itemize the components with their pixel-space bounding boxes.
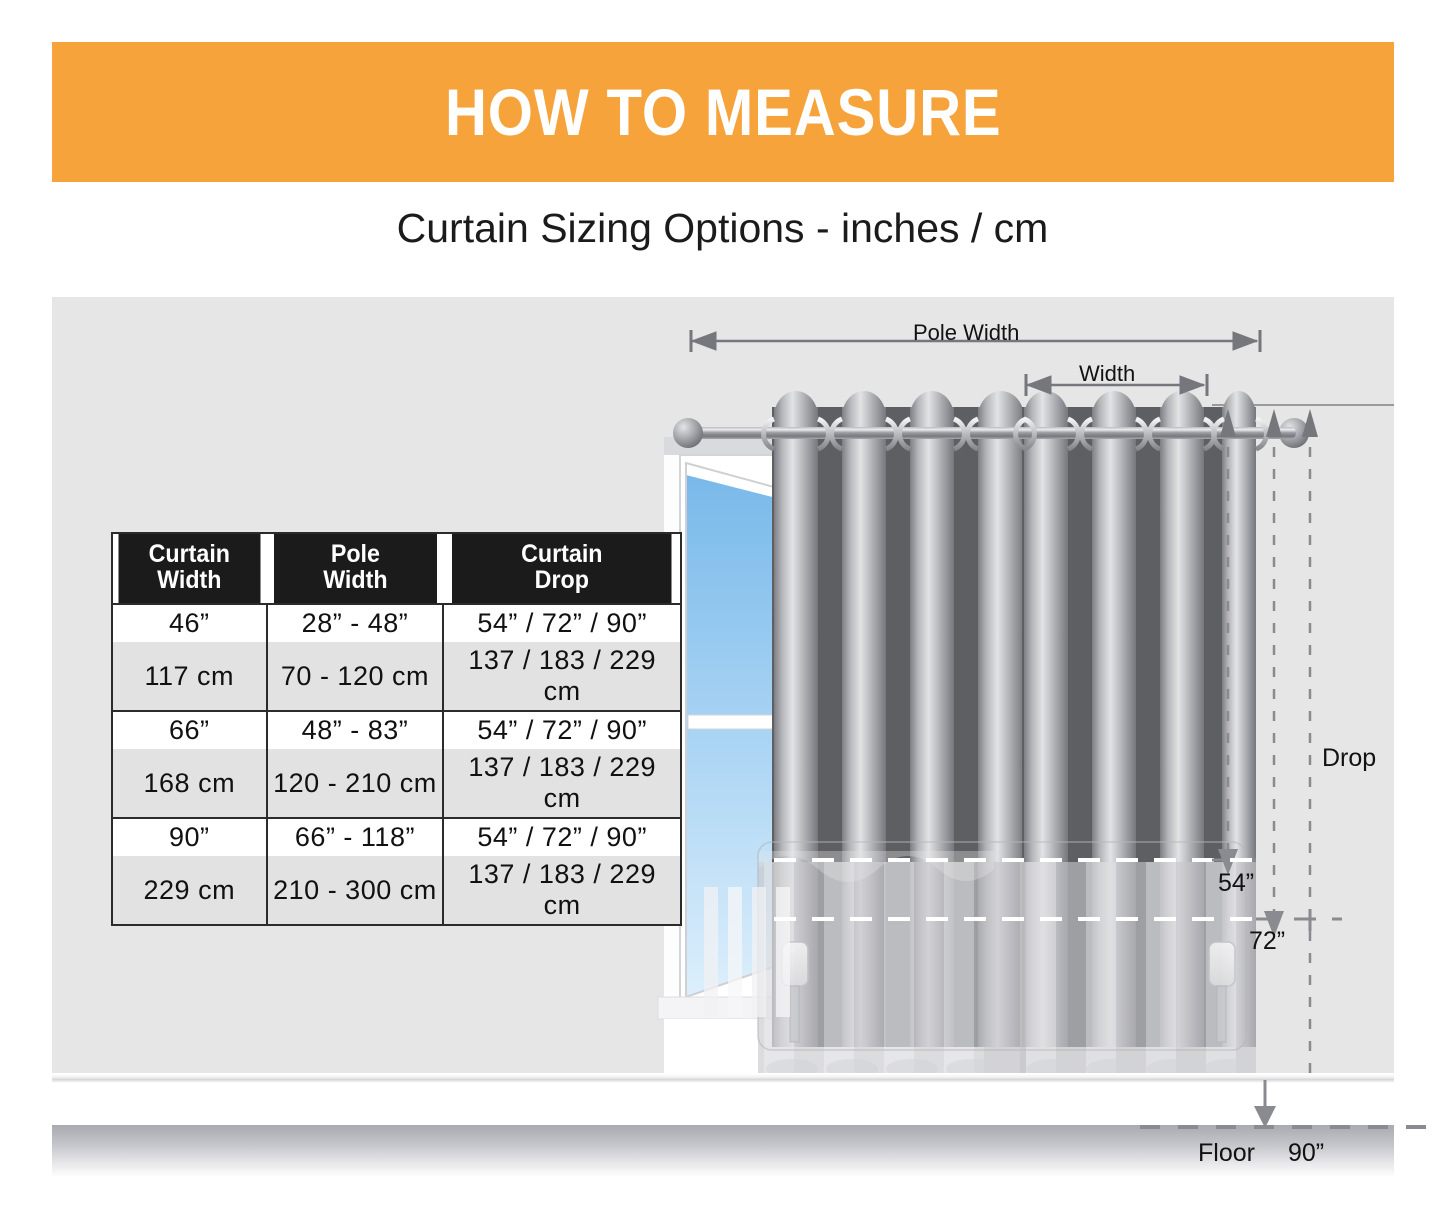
label-width: Width (1079, 361, 1135, 387)
cell-curtain-drop: 54” / 72” / 90” (443, 818, 680, 856)
cell-curtain-width: 229 cm (113, 856, 267, 924)
cell-pole-width: 66” - 118” (267, 818, 444, 856)
label-drop-54: 54” (1218, 869, 1254, 898)
page-title: HOW TO MEASURE (445, 74, 1002, 150)
table-row: 168 cm 120 - 210 cm 137 / 183 / 229 cm (113, 749, 680, 818)
cell-pole-width: 120 - 210 cm (267, 749, 444, 818)
table-row: 90” 66” - 118” 54” / 72” / 90” (113, 818, 680, 856)
cell-curtain-drop: 137 / 183 / 229 cm (443, 642, 680, 711)
header-banner: HOW TO MEASURE (52, 42, 1394, 182)
cell-curtain-drop: 54” / 72” / 90” (443, 711, 680, 749)
table-header-row: Curtain Width Pole Width Curtain Drop (113, 534, 680, 604)
cell-curtain-width: 90” (113, 818, 267, 856)
column-header-curtain-drop: Curtain Drop (452, 534, 672, 604)
cell-pole-width: 70 - 120 cm (267, 642, 444, 711)
header-line-2: Width (157, 566, 221, 594)
subtitle: Curtain Sizing Options - inches / cm (0, 205, 1445, 252)
header-line-2: Drop (535, 566, 589, 594)
label-pole-width: Pole Width (913, 320, 1019, 346)
column-header-pole-width: Pole Width (273, 534, 437, 604)
label-drop-90: 90” (1288, 1139, 1324, 1168)
header-line-1: Curtain (521, 540, 602, 568)
cell-curtain-drop: 137 / 183 / 229 cm (443, 856, 680, 924)
cell-curtain-width: 168 cm (113, 749, 267, 818)
table-row: 117 cm 70 - 120 cm 137 / 183 / 229 cm (113, 642, 680, 711)
header-line-2: Width (323, 566, 387, 594)
label-drop-72: 72” (1249, 927, 1285, 956)
cell-pole-width: 28” - 48” (267, 604, 444, 642)
label-drop: Drop (1322, 744, 1376, 773)
cell-curtain-width: 117 cm (113, 642, 267, 711)
header-line-1: Curtain (149, 540, 230, 568)
table-row: 46” 28” - 48” 54” / 72” / 90” (113, 604, 680, 642)
table-row: 66” 48” - 83” 54” / 72” / 90” (113, 711, 680, 749)
pole-finial-left (673, 418, 703, 448)
cell-curtain-width: 46” (113, 604, 267, 642)
cell-curtain-width: 66” (113, 711, 267, 749)
label-floor: Floor (1198, 1139, 1255, 1168)
curtain-sizing-table: Curtain Width Pole Width Curtain Drop 46… (113, 534, 680, 924)
cell-pole-width: 210 - 300 cm (267, 856, 444, 924)
cell-curtain-drop: 137 / 183 / 229 cm (443, 749, 680, 818)
cell-pole-width: 48” - 83” (267, 711, 444, 749)
table-row: 229 cm 210 - 300 cm 137 / 183 / 229 cm (113, 856, 680, 924)
cell-curtain-drop: 54” / 72” / 90” (443, 604, 680, 642)
column-header-curtain-width: Curtain Width (118, 534, 261, 604)
header-line-1: Pole (330, 540, 379, 568)
curtain-sheer-overlay (704, 842, 1256, 1073)
